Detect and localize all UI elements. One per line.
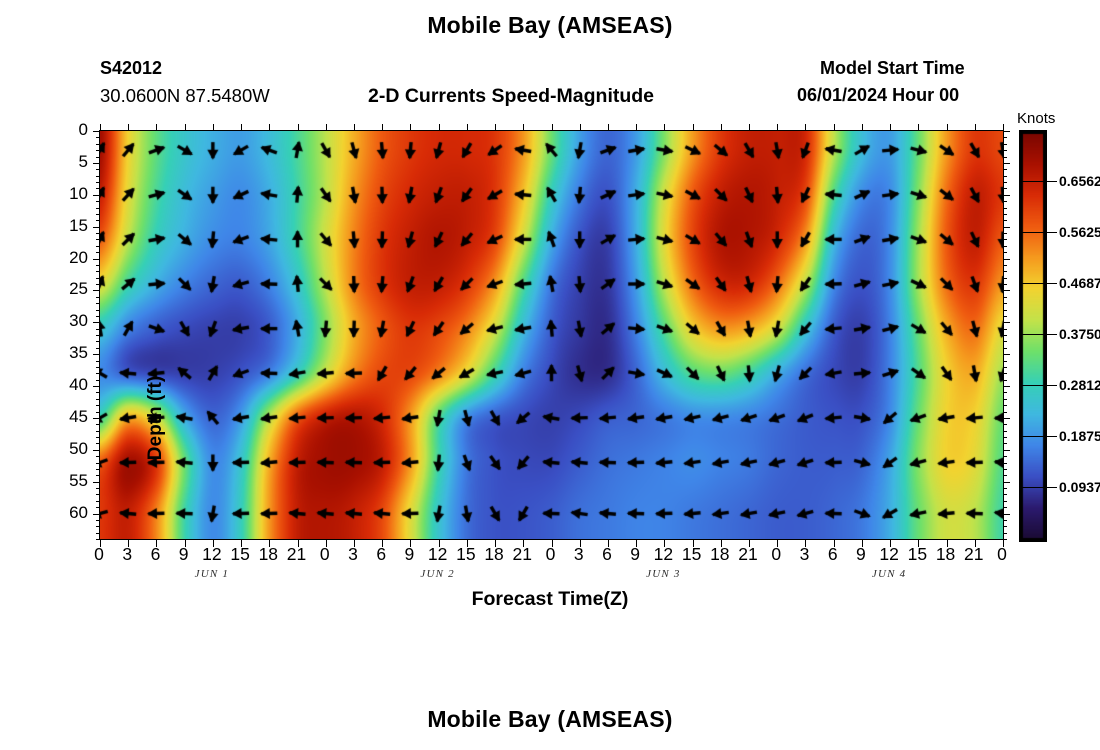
colorbar-tick-label: 0.09375	[1059, 479, 1100, 495]
y-axis-tick-mark	[1003, 227, 1010, 228]
station-coordinates: 30.0600N 87.5480W	[100, 85, 270, 107]
y-axis-tick-mark	[93, 450, 100, 451]
y-axis-minor-tick	[1003, 520, 1007, 521]
y-axis-tick-mark	[93, 482, 100, 483]
y-axis-minor-tick	[1003, 469, 1007, 470]
x-axis-tick-label: 0	[982, 544, 1022, 565]
x-axis-tick-mark	[1003, 124, 1004, 131]
y-axis-minor-tick	[1003, 341, 1007, 342]
x-axis-tick-mark	[354, 124, 355, 131]
y-axis-minor-tick	[96, 341, 100, 342]
y-axis-minor-tick	[1003, 284, 1007, 285]
y-axis-minor-tick	[96, 214, 100, 215]
y-axis-minor-tick	[1003, 169, 1007, 170]
y-axis-minor-tick	[1003, 361, 1007, 362]
y-axis-tick-label: 0	[79, 121, 88, 138]
x-axis-day-label: JUN 3	[613, 568, 713, 580]
y-axis-minor-tick	[96, 157, 100, 158]
x-axis-tick-mark	[608, 124, 609, 131]
x-axis-tick-mark	[721, 124, 722, 131]
colorbar-canvas	[1019, 130, 1047, 542]
y-axis-tick-label: 15	[69, 217, 88, 234]
y-axis-minor-tick	[96, 278, 100, 279]
y-axis-minor-tick	[96, 310, 100, 311]
colorbar-tick-mark	[1043, 385, 1057, 386]
station-id: S42012	[100, 58, 162, 79]
y-axis-tick-mark	[93, 386, 100, 387]
x-axis-tick-mark	[749, 124, 750, 131]
y-axis-minor-tick	[96, 246, 100, 247]
y-axis-minor-tick	[1003, 335, 1007, 336]
y-axis-minor-tick	[1003, 367, 1007, 368]
y-axis-tick-mark	[1003, 418, 1010, 419]
y-axis-minor-tick	[96, 443, 100, 444]
y-axis-minor-tick	[96, 233, 100, 234]
y-axis-tick-label: 25	[69, 280, 88, 297]
y-axis-tick-mark	[93, 195, 100, 196]
x-axis-day-label: JUN 1	[162, 568, 262, 580]
y-axis-tick-mark	[93, 514, 100, 515]
y-axis-minor-tick	[96, 265, 100, 266]
y-axis-minor-tick	[96, 361, 100, 362]
y-axis-tick-mark	[1003, 131, 1010, 132]
y-axis-tick-mark	[1003, 450, 1010, 451]
colorbar-tick-label: 0.56250	[1059, 224, 1100, 240]
y-axis-tick-mark	[93, 418, 100, 419]
y-axis-minor-tick	[96, 316, 100, 317]
colorbar-tick-mark	[1043, 334, 1057, 335]
y-axis-tick-label: 50	[69, 440, 88, 457]
y-axis-minor-tick	[96, 169, 100, 170]
y-axis-minor-tick	[1003, 182, 1007, 183]
y-axis-minor-tick	[1003, 176, 1007, 177]
y-axis-tick-mark	[93, 131, 100, 132]
y-axis-minor-tick	[96, 399, 100, 400]
x-axis-tick-mark	[693, 124, 694, 131]
y-axis-minor-tick	[1003, 303, 1007, 304]
colorbar-tick-label: 0.28125	[1059, 377, 1100, 393]
y-axis-minor-tick	[1003, 494, 1007, 495]
y-axis-minor-tick	[1003, 380, 1007, 381]
y-axis-minor-tick	[1003, 526, 1007, 527]
current-speed-heatmap-canvas	[100, 131, 1003, 539]
y-axis-minor-tick	[96, 284, 100, 285]
y-axis-minor-tick	[96, 137, 100, 138]
colorbar-tick-mark	[1043, 181, 1057, 182]
y-axis-tick-mark	[1003, 322, 1010, 323]
y-axis-tick-mark	[1003, 259, 1010, 260]
chart-subtitle: 2-D Currents Speed-Magnitude	[368, 85, 654, 108]
y-axis-tick-mark	[93, 290, 100, 291]
y-axis-tick-mark	[93, 163, 100, 164]
y-axis-minor-tick	[96, 431, 100, 432]
y-axis-tick-label: 55	[69, 472, 88, 489]
y-axis-minor-tick	[96, 176, 100, 177]
y-axis-tick-mark	[93, 354, 100, 355]
y-axis-minor-tick	[1003, 188, 1007, 189]
y-axis-minor-tick	[1003, 208, 1007, 209]
y-axis-minor-tick	[96, 405, 100, 406]
colorbar-tick-mark	[1019, 181, 1043, 182]
colorbar-tick-mark	[1019, 436, 1043, 437]
x-axis-tick-mark	[467, 124, 468, 131]
y-axis-minor-tick	[1003, 533, 1007, 534]
x-axis-tick-mark	[495, 124, 496, 131]
y-axis-minor-tick	[96, 335, 100, 336]
y-axis-minor-tick	[1003, 463, 1007, 464]
x-axis-day-label: JUN 4	[839, 568, 939, 580]
y-axis-minor-tick	[96, 239, 100, 240]
y-axis-minor-tick	[1003, 233, 1007, 234]
y-axis-minor-tick	[96, 469, 100, 470]
x-axis-tick-mark	[128, 124, 129, 131]
y-axis-minor-tick	[96, 220, 100, 221]
y-axis-tick-mark	[93, 227, 100, 228]
y-axis-minor-tick	[96, 463, 100, 464]
y-axis-minor-tick	[1003, 239, 1007, 240]
x-axis-tick-mark	[298, 124, 299, 131]
y-axis-title: Depth (ft)	[145, 338, 167, 498]
x-axis-tick-mark	[862, 124, 863, 131]
y-axis-tick-mark	[93, 322, 100, 323]
y-axis-minor-tick	[1003, 246, 1007, 247]
colorbar-tick-mark	[1019, 232, 1043, 233]
colorbar-tick-label: 0.65625	[1059, 173, 1100, 189]
y-axis-minor-tick	[96, 488, 100, 489]
x-axis-tick-mark	[552, 124, 553, 131]
colorbar-tick-label: 0.18750	[1059, 428, 1100, 444]
y-axis-tick-mark	[1003, 290, 1010, 291]
y-axis-minor-tick	[96, 526, 100, 527]
y-axis-minor-tick	[1003, 201, 1007, 202]
colorbar-tick-mark	[1043, 283, 1057, 284]
y-axis-minor-tick	[96, 412, 100, 413]
x-axis-tick-mark	[439, 124, 440, 131]
model-start-time-label: Model Start Time	[820, 58, 965, 79]
speed-magnitude-plot: Depth (ft)	[99, 130, 1004, 540]
y-axis-minor-tick	[1003, 443, 1007, 444]
y-axis-minor-tick	[1003, 373, 1007, 374]
y-axis-minor-tick	[1003, 252, 1007, 253]
y-axis-minor-tick	[96, 208, 100, 209]
y-axis-minor-tick	[96, 201, 100, 202]
x-axis-tick-mark	[185, 124, 186, 131]
y-axis-minor-tick	[96, 456, 100, 457]
x-axis-tick-mark	[382, 124, 383, 131]
page-title-bottom: Mobile Bay (AMSEAS)	[0, 706, 1100, 733]
y-axis-minor-tick	[96, 182, 100, 183]
x-axis-tick-mark	[580, 124, 581, 131]
x-axis-tick-mark	[269, 124, 270, 131]
y-axis-minor-tick	[1003, 278, 1007, 279]
y-axis-minor-tick	[96, 437, 100, 438]
x-axis-tick-mark	[947, 124, 948, 131]
y-axis-tick-label: 5	[79, 153, 88, 170]
y-axis-minor-tick	[96, 329, 100, 330]
y-axis-minor-tick	[1003, 424, 1007, 425]
y-axis-minor-tick	[96, 507, 100, 508]
y-axis-tick-mark	[93, 259, 100, 260]
y-axis-minor-tick	[96, 475, 100, 476]
y-axis-tick-mark	[1003, 195, 1010, 196]
y-axis-minor-tick	[96, 150, 100, 151]
y-axis-minor-tick	[1003, 405, 1007, 406]
x-axis-tick-mark	[805, 124, 806, 131]
x-axis-tick-mark	[777, 124, 778, 131]
y-axis-minor-tick	[1003, 412, 1007, 413]
y-axis-tick-label: 60	[69, 504, 88, 521]
colorbar-tick-mark	[1019, 487, 1043, 488]
y-axis-minor-tick	[1003, 437, 1007, 438]
y-axis-minor-tick	[96, 348, 100, 349]
y-axis-minor-tick	[1003, 265, 1007, 266]
y-axis-minor-tick	[96, 380, 100, 381]
y-axis-minor-tick	[96, 494, 100, 495]
x-axis-tick-mark	[636, 124, 637, 131]
y-axis-minor-tick	[1003, 399, 1007, 400]
y-axis-minor-tick	[96, 367, 100, 368]
y-axis-tick-mark	[1003, 386, 1010, 387]
colorbar-unit-label: Knots	[1017, 110, 1055, 127]
y-axis-minor-tick	[1003, 475, 1007, 476]
y-axis-minor-tick	[96, 373, 100, 374]
y-axis-minor-tick	[1003, 144, 1007, 145]
x-axis-tick-mark	[975, 124, 976, 131]
y-axis-minor-tick	[1003, 431, 1007, 432]
y-axis-minor-tick	[96, 520, 100, 521]
y-axis-minor-tick	[1003, 488, 1007, 489]
y-axis-minor-tick	[1003, 392, 1007, 393]
model-start-time-value: 06/01/2024 Hour 00	[797, 85, 959, 106]
y-axis-tick-mark	[1003, 514, 1010, 515]
y-axis-minor-tick	[96, 424, 100, 425]
y-axis-minor-tick	[96, 144, 100, 145]
y-axis-tick-label: 30	[69, 312, 88, 329]
x-axis-tick-mark	[100, 124, 101, 131]
colorbar	[1019, 130, 1043, 538]
y-axis-minor-tick	[96, 188, 100, 189]
y-axis-minor-tick	[1003, 310, 1007, 311]
y-axis-minor-tick	[1003, 157, 1007, 158]
x-axis-tick-mark	[890, 124, 891, 131]
colorbar-tick-mark	[1019, 283, 1043, 284]
x-axis-tick-mark	[156, 124, 157, 131]
y-axis-minor-tick	[96, 533, 100, 534]
colorbar-tick-label: 0.46875	[1059, 275, 1100, 291]
x-axis-tick-mark	[834, 124, 835, 131]
page-title-top: Mobile Bay (AMSEAS)	[0, 12, 1100, 39]
colorbar-tick-mark	[1043, 232, 1057, 233]
x-axis-tick-mark	[523, 124, 524, 131]
y-axis-minor-tick	[96, 392, 100, 393]
x-axis-tick-mark	[241, 124, 242, 131]
x-axis-tick-mark	[326, 124, 327, 131]
x-axis-day-label: JUN 2	[388, 568, 488, 580]
y-axis-minor-tick	[1003, 316, 1007, 317]
y-axis-minor-tick	[96, 501, 100, 502]
x-axis-tick-mark	[213, 124, 214, 131]
y-axis-minor-tick	[1003, 507, 1007, 508]
x-axis-tick-mark	[410, 124, 411, 131]
colorbar-tick-label: 0.37500	[1059, 326, 1100, 342]
y-axis-minor-tick	[96, 252, 100, 253]
y-axis-tick-mark	[1003, 163, 1010, 164]
y-axis-minor-tick	[1003, 329, 1007, 330]
x-axis-tick-mark	[918, 124, 919, 131]
colorbar-tick-mark	[1043, 487, 1057, 488]
y-axis-tick-mark	[1003, 354, 1010, 355]
y-axis-minor-tick	[96, 303, 100, 304]
colorbar-tick-mark	[1043, 436, 1057, 437]
y-axis-minor-tick	[1003, 150, 1007, 151]
y-axis-minor-tick	[1003, 220, 1007, 221]
y-axis-minor-tick	[1003, 214, 1007, 215]
y-axis-tick-label: 35	[69, 344, 88, 361]
y-axis-tick-label: 40	[69, 376, 88, 393]
y-axis-minor-tick	[1003, 271, 1007, 272]
y-axis-minor-tick	[1003, 297, 1007, 298]
x-axis-title: Forecast Time(Z)	[0, 588, 1100, 611]
y-axis-tick-label: 45	[69, 408, 88, 425]
y-axis-minor-tick	[1003, 137, 1007, 138]
y-axis-tick-mark	[1003, 482, 1010, 483]
y-axis-minor-tick	[96, 271, 100, 272]
y-axis-minor-tick	[1003, 501, 1007, 502]
y-axis-tick-label: 20	[69, 249, 88, 266]
y-axis-minor-tick	[96, 297, 100, 298]
x-axis-tick-mark	[664, 124, 665, 131]
y-axis-minor-tick	[1003, 348, 1007, 349]
colorbar-tick-mark	[1019, 334, 1043, 335]
colorbar-tick-mark	[1019, 385, 1043, 386]
y-axis-minor-tick	[1003, 456, 1007, 457]
y-axis-tick-label: 10	[69, 185, 88, 202]
